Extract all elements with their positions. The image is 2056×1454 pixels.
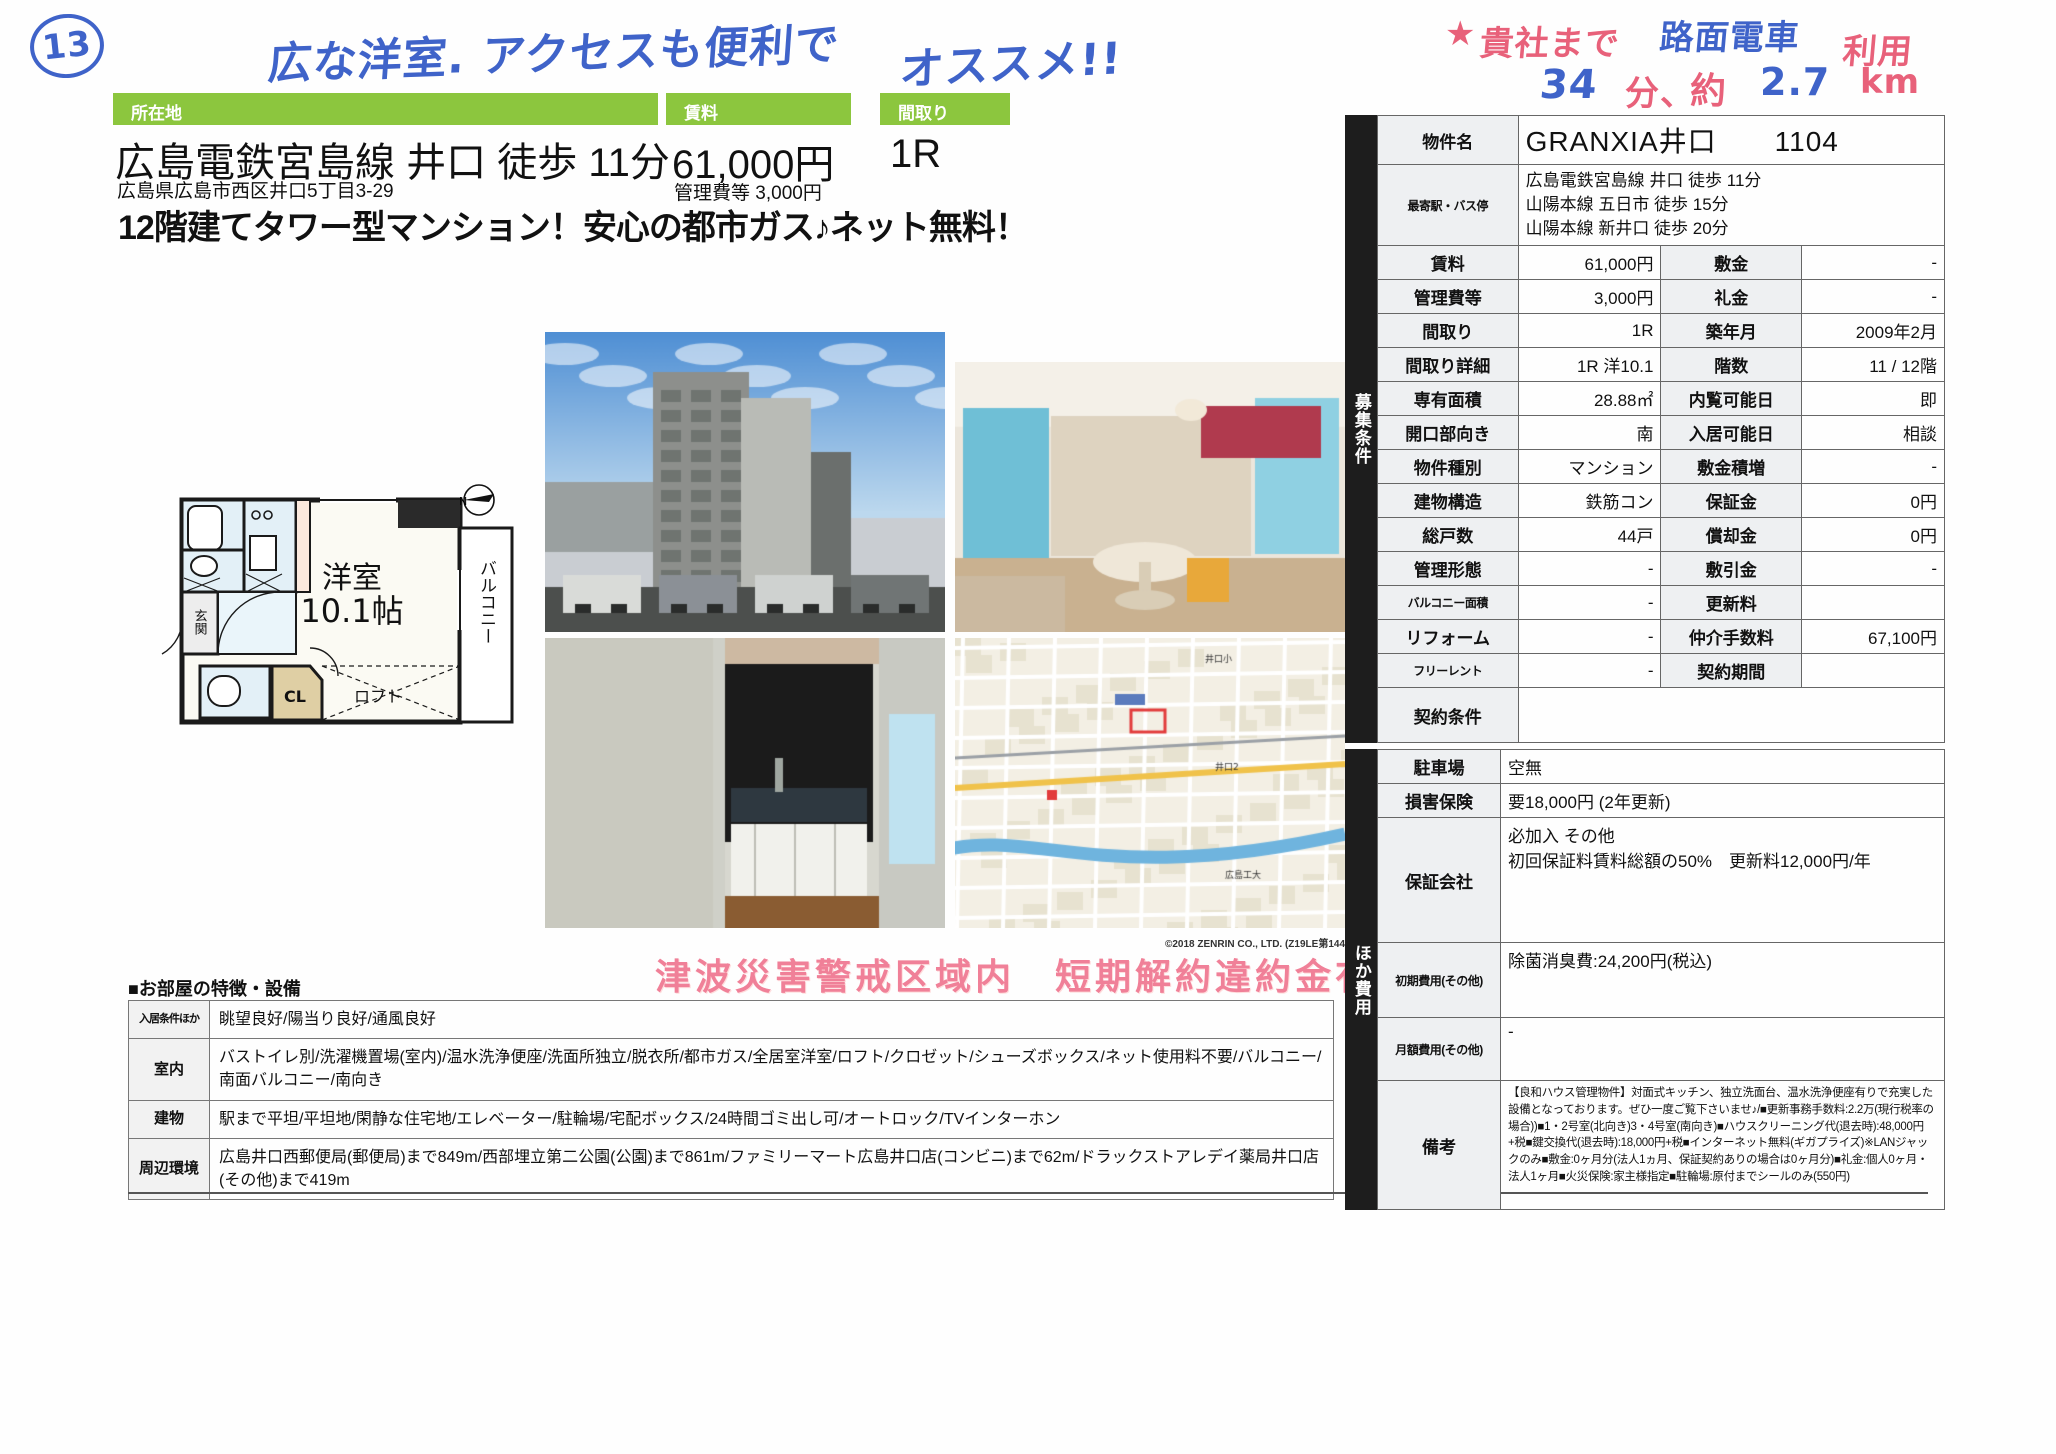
detail-label-left: 建物構造 bbox=[1378, 484, 1519, 518]
svg-text:N: N bbox=[459, 495, 467, 508]
station-line-2: 山陽本線 五日市 徒歩 15分 bbox=[1526, 193, 1937, 217]
table-row: 賃料61,000円敷金- bbox=[1378, 246, 1945, 280]
conditions-rail: 募集条件 bbox=[1345, 115, 1377, 743]
detail-label-left: リフォーム bbox=[1378, 620, 1519, 654]
detail-label-right: 仲介手数料 bbox=[1661, 620, 1802, 654]
detail-value-right: 相談 bbox=[1802, 416, 1945, 450]
detail-label-left: バルコニー面積 bbox=[1378, 586, 1519, 620]
table-row: 最寄駅・バス停 広島電鉄宮島線 井口 徒歩 11分 山陽本線 五日市 徒歩 15… bbox=[1378, 165, 1945, 246]
detail-value-left: 28.88㎡ bbox=[1518, 382, 1661, 416]
initial-cost-label: 初期費用(その他) bbox=[1378, 943, 1501, 1018]
catchcopy: 12階建てタワー型マンション！安心の都市ガス♪ネット無料！ bbox=[118, 200, 1028, 249]
detail-label-left: 管理形態 bbox=[1378, 552, 1519, 586]
monthly-cost-label: 月額費用(その他) bbox=[1378, 1018, 1501, 1081]
table-row: 総戸数44戸償却金0円 bbox=[1378, 518, 1945, 552]
detail-label-left: 間取り詳細 bbox=[1378, 348, 1519, 382]
detail-label-right: 敷引金 bbox=[1661, 552, 1802, 586]
features-key-interior: 室内 bbox=[129, 1039, 210, 1100]
floorplan-entrance-label: 玄関 bbox=[192, 609, 208, 636]
table-row: 契約条件 bbox=[1378, 688, 1945, 743]
handwritten-to-company: 貴社まで bbox=[1478, 16, 1622, 65]
detail-value-right: 即 bbox=[1802, 382, 1945, 416]
detail-value-left: 61,000円 bbox=[1518, 246, 1661, 280]
detail-value-right: - bbox=[1802, 246, 1945, 280]
handwritten-distance: 2.7 bbox=[1760, 60, 1830, 104]
detail-value-right: - bbox=[1802, 280, 1945, 314]
table-row: 入居条件ほか 眺望良好/陽当り良好/通風良好 bbox=[129, 1001, 1334, 1039]
conditions-rail-label: 募集条件 bbox=[1352, 393, 1370, 465]
conditions-table: 物件名 GRANXIA井口 1104 最寄駅・バス停 広島電鉄宮島線 井口 徒歩… bbox=[1377, 115, 1945, 743]
remarks-label: 備考 bbox=[1378, 1081, 1501, 1210]
parking-label: 駐車場 bbox=[1378, 750, 1501, 784]
exterior-photo bbox=[545, 332, 945, 632]
detail-label-right: 築年月 bbox=[1661, 314, 1802, 348]
detail-value-left: マンション bbox=[1518, 450, 1661, 484]
listing-sheet: 13 広な洋室. アクセスも便利で オススメ!! ★ 貴社まで 路面電車 利用 … bbox=[0, 0, 2056, 1454]
table-row: 間取り詳細1R 洋10.1階数11 / 12階 bbox=[1378, 348, 1945, 382]
table-row: 駐車場 空無 bbox=[1378, 750, 1945, 784]
detail-value-right: - bbox=[1802, 450, 1945, 484]
detail-value-right bbox=[1802, 586, 1945, 620]
table-row: 物件名 GRANXIA井口 1104 bbox=[1378, 116, 1945, 165]
floorplan-loft-label: ロフト bbox=[354, 687, 402, 706]
other-costs-table: 駐車場 空無 損害保険 要18,000円 (2年更新) 保証会社 必加入 その他… bbox=[1377, 749, 1945, 1210]
table-row: 間取り1R築年月2009年2月 bbox=[1378, 314, 1945, 348]
remarks-value: 【良和ハウス管理物件】対面式キッチン、独立洗面台、温水洗浄便座有りで充実した設備… bbox=[1501, 1081, 1945, 1210]
layout-band-label: 間取り bbox=[880, 93, 1010, 125]
detail-label-left: 間取り bbox=[1378, 314, 1519, 348]
warning-stamp: 津波災害警戒区域内 短期解約違約金有 bbox=[655, 948, 1375, 1000]
features-value-building: 駅まで平坦/平坦地/閑静な住宅地/エレベーター/駐輪場/宅配ボックス/24時間ゴ… bbox=[210, 1100, 1334, 1138]
detail-value-right: - bbox=[1802, 552, 1945, 586]
station-label: 最寄駅・バス停 bbox=[1378, 165, 1519, 246]
floorplan-room-size: 10.1帖 bbox=[300, 592, 403, 630]
table-row: 損害保険 要18,000円 (2年更新) bbox=[1378, 784, 1945, 818]
detail-value-left: 1R bbox=[1518, 314, 1661, 348]
detail-label-left: 総戸数 bbox=[1378, 518, 1519, 552]
detail-value-left: 鉄筋コン bbox=[1518, 484, 1661, 518]
table-row: 建物 駅まで平坦/平坦地/閑静な住宅地/エレベーター/駐輪場/宅配ボックス/24… bbox=[129, 1100, 1334, 1138]
features-key-surroundings: 周辺環境 bbox=[129, 1138, 210, 1199]
table-row: 管理形態-敷引金- bbox=[1378, 552, 1945, 586]
guarantor-label: 保証会社 bbox=[1378, 818, 1501, 943]
table-row: 保証会社 必加入 その他 初回保証料賃料総額の50% 更新料12,000円/年 bbox=[1378, 818, 1945, 943]
contract-label: 契約条件 bbox=[1378, 688, 1519, 743]
table-row: 物件種別マンション敷金積増- bbox=[1378, 450, 1945, 484]
features-value-conditions: 眺望良好/陽当り良好/通風良好 bbox=[210, 1001, 1334, 1039]
guarantor-value: 必加入 その他 初回保証料賃料総額の50% 更新料12,000円/年 bbox=[1501, 818, 1945, 943]
other-costs-rail-label: ほか費用 bbox=[1352, 944, 1370, 1016]
table-row: 開口部向き南入居可能日相談 bbox=[1378, 416, 1945, 450]
handwritten-approx: 約 bbox=[1690, 62, 1727, 114]
detail-value-right: 2009年2月 bbox=[1802, 314, 1945, 348]
detail-value-left: - bbox=[1518, 620, 1661, 654]
detail-label-left: 専有面積 bbox=[1378, 382, 1519, 416]
detail-value-right: 0円 bbox=[1802, 518, 1945, 552]
table-row: 室内 バストイレ別/洗濯機置場(室内)/温水洗浄便座/洗面所独立/脱衣所/都市ガ… bbox=[129, 1039, 1334, 1100]
detail-value-right: 67,100円 bbox=[1802, 620, 1945, 654]
parking-value: 空無 bbox=[1501, 750, 1945, 784]
detail-label-right: 更新料 bbox=[1661, 586, 1802, 620]
other-costs-rail: ほか費用 bbox=[1345, 749, 1377, 1210]
detail-value-left: - bbox=[1518, 654, 1661, 688]
detail-label-left: 物件種別 bbox=[1378, 450, 1519, 484]
insurance-value: 要18,000円 (2年更新) bbox=[1501, 784, 1945, 818]
property-name-label: 物件名 bbox=[1378, 116, 1519, 165]
other-costs-block: ほか費用 駐車場 空無 損害保険 要18,000円 (2年更新) 保証会社 必加… bbox=[1345, 749, 1945, 1210]
compass-icon: N bbox=[455, 480, 499, 524]
handwritten-tram: 路面電車 bbox=[1658, 10, 1802, 59]
handwritten-star-icon: ★ bbox=[1445, 14, 1476, 54]
features-key-building: 建物 bbox=[129, 1100, 210, 1138]
table-row: リフォーム-仲介手数料67,100円 bbox=[1378, 620, 1945, 654]
detail-value-left: 1R 洋10.1 bbox=[1518, 348, 1661, 382]
detail-value-left: - bbox=[1518, 552, 1661, 586]
detail-value-left: 南 bbox=[1518, 416, 1661, 450]
property-detail-panel: 募集条件 物件名 GRANXIA井口 1104 最寄駅・バス停 広島電鉄宮島線 … bbox=[1345, 115, 1945, 1216]
detail-value-left: 44戸 bbox=[1518, 518, 1661, 552]
interior-living-photo bbox=[955, 362, 1345, 632]
station-line-3: 山陽本線 新井口 徒歩 20分 bbox=[1526, 217, 1937, 241]
detail-value-right bbox=[1802, 654, 1945, 688]
features-value-surroundings: 広島井口西郵便局(郵便局)まで849m/西部埋立第二公園(公園)まで861m/フ… bbox=[210, 1138, 1334, 1199]
detail-value-right: 0円 bbox=[1802, 484, 1945, 518]
kitchen-photo bbox=[545, 638, 945, 928]
table-row: バルコニー面積-更新料 bbox=[1378, 586, 1945, 620]
table-row: 建物構造鉄筋コン保証金0円 bbox=[1378, 484, 1945, 518]
map-copyright: ©2018 ZENRIN CO., LTD. (Z19LE第1442号) bbox=[1165, 935, 1364, 950]
table-row: フリーレント-契約期間 bbox=[1378, 654, 1945, 688]
insurance-label: 損害保険 bbox=[1378, 784, 1501, 818]
detail-label-left: 開口部向き bbox=[1378, 416, 1519, 450]
handwritten-index-number: 13 bbox=[27, 10, 107, 81]
address-sub: 広島県広島市西区井口5丁目3-29 bbox=[117, 176, 394, 203]
detail-label-right: 敷金 bbox=[1661, 246, 1802, 280]
detail-value-right: 11 / 12階 bbox=[1802, 348, 1945, 382]
handwritten-distance-unit: km bbox=[1860, 62, 1920, 102]
detail-label-right: 契約期間 bbox=[1661, 654, 1802, 688]
detail-label-right: 内覧可能日 bbox=[1661, 382, 1802, 416]
features-title: ■お部屋の特徴・設備 bbox=[128, 975, 301, 1001]
detail-value-left: 3,000円 bbox=[1518, 280, 1661, 314]
monthly-cost-value: - bbox=[1501, 1018, 1945, 1081]
detail-label-right: 敷金積増 bbox=[1661, 450, 1802, 484]
conditions-block: 募集条件 物件名 GRANXIA井口 1104 最寄駅・バス停 広島電鉄宮島線 … bbox=[1345, 115, 1945, 743]
detail-value-left: - bbox=[1518, 586, 1661, 620]
detail-label-left: 賃料 bbox=[1378, 246, 1519, 280]
floorplan-room-label: 洋室 bbox=[322, 561, 382, 596]
detail-label-right: 保証金 bbox=[1661, 484, 1802, 518]
detail-label-left: フリーレント bbox=[1378, 654, 1519, 688]
features-key-conditions: 入居条件ほか bbox=[129, 1001, 210, 1039]
station-line-1: 広島電鉄宮島線 井口 徒歩 11分 bbox=[1526, 169, 1937, 193]
detail-label-right: 入居可能日 bbox=[1661, 416, 1802, 450]
station-values: 広島電鉄宮島線 井口 徒歩 11分 山陽本線 五日市 徒歩 15分 山陽本線 新… bbox=[1518, 165, 1944, 246]
handwritten-minutes: 34 bbox=[1538, 62, 1600, 108]
floorplan-closet-label: CL bbox=[284, 687, 306, 706]
detail-label-left: 管理費等 bbox=[1378, 280, 1519, 314]
table-row: 専有面積28.88㎡内覧可能日即 bbox=[1378, 382, 1945, 416]
features-value-interior: バストイレ別/洗濯機置場(室内)/温水洗浄便座/洗面所独立/脱衣所/都市ガス/全… bbox=[210, 1039, 1334, 1100]
floorplan-balcony-label: バルコニー bbox=[476, 560, 496, 645]
handwritten-blue-note: 広な洋室. アクセスも便利で bbox=[266, 8, 842, 92]
table-row: 備考 【良和ハウス管理物件】対面式キッチン、独立洗面台、温水洗浄便座有りで充実し… bbox=[1378, 1081, 1945, 1210]
location-map-photo bbox=[955, 638, 1345, 928]
rent-band-label: 賃料 bbox=[666, 93, 851, 125]
handwritten-minutes-unit: 分、 bbox=[1625, 66, 1695, 115]
initial-cost-value: 除菌消臭費:24,200円(税込) bbox=[1501, 943, 1945, 1018]
contract-value bbox=[1518, 688, 1944, 743]
table-row: 管理費等3,000円礼金- bbox=[1378, 280, 1945, 314]
handwritten-recommend-note: オススメ!! bbox=[898, 22, 1123, 98]
detail-label-right: 階数 bbox=[1661, 348, 1802, 382]
detail-label-right: 償却金 bbox=[1661, 518, 1802, 552]
property-name-value: GRANXIA井口 1104 bbox=[1518, 116, 1944, 165]
table-row: 月額費用(その他) - bbox=[1378, 1018, 1945, 1081]
table-row: 初期費用(その他) 除菌消臭費:24,200円(税込) bbox=[1378, 943, 1945, 1018]
layout-value: 1R bbox=[890, 132, 941, 177]
features-table: 入居条件ほか 眺望良好/陽当り良好/通風良好 室内 バストイレ別/洗濯機置場(室… bbox=[128, 1000, 1334, 1200]
address-band-label: 所在地 bbox=[113, 93, 658, 125]
detail-label-right: 礼金 bbox=[1661, 280, 1802, 314]
table-row: 周辺環境 広島井口西郵便局(郵便局)まで849m/西部埋立第二公園(公園)まで8… bbox=[129, 1138, 1334, 1199]
